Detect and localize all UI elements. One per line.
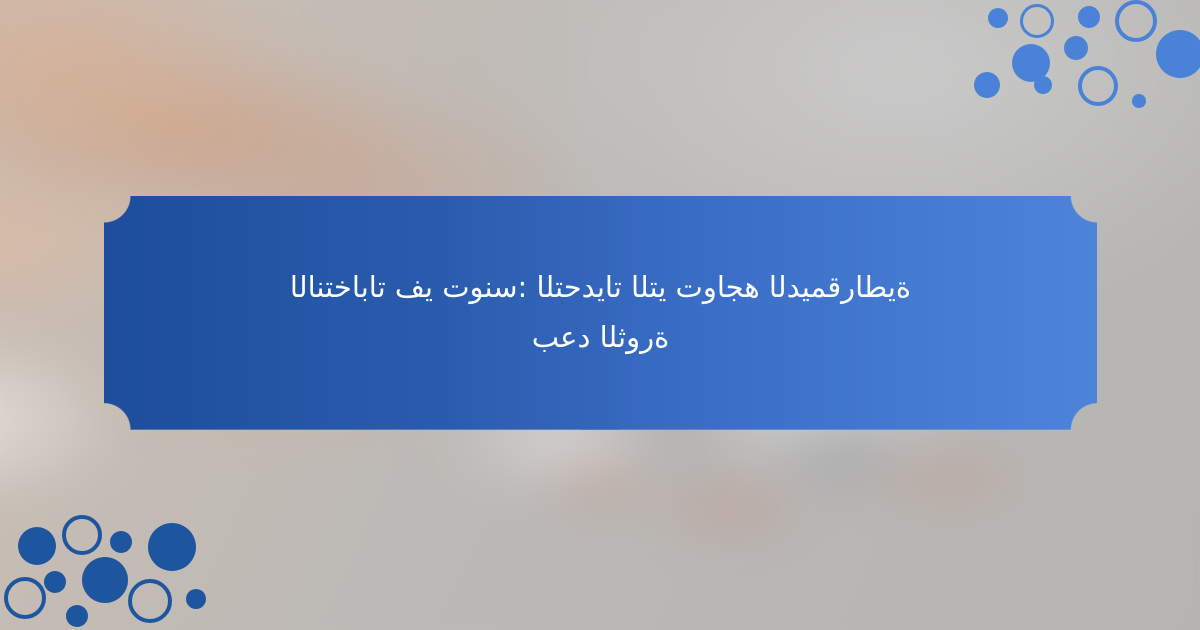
social-card: ةيطارقميدلا هجاوت يتلا تايدحتلا :سنوت يف… — [0, 0, 1200, 630]
page-title: ةيطارقميدلا هجاوت يتلا تايدحتلا :سنوت يف… — [290, 263, 911, 363]
headline-banner: ةيطارقميدلا هجاوت يتلا تايدحتلا :سنوت يف… — [104, 196, 1097, 430]
